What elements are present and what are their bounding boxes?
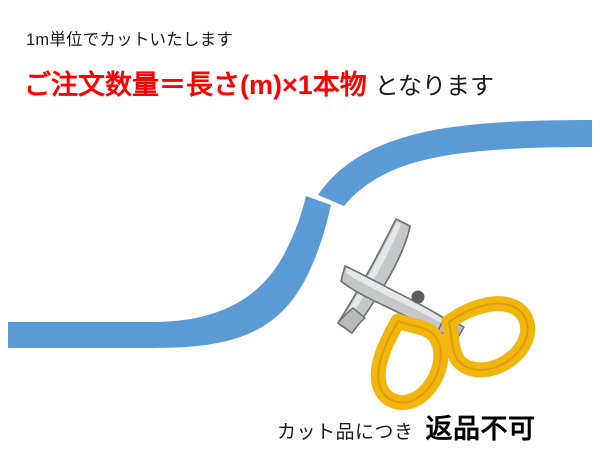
headline-tail: となります (375, 73, 494, 100)
product-cut-notice: 1m単位でカットいたします ご注文数量＝長さ(m)×1本物となります カット品に… (0, 0, 600, 466)
blue-cable-lower-segment (8, 196, 331, 348)
headline-line-1: 1m単位でカットいたします (26, 30, 233, 50)
scissors-icon (338, 219, 528, 403)
footnote-lead: カット品につき (277, 422, 414, 443)
return-policy-note: カット品につき返品不可 (277, 414, 536, 449)
scissors-pivot-icon (412, 291, 425, 304)
headline-line-2: ご注文数量＝長さ(m)×1本物となります (24, 68, 494, 104)
footnote-emphasis: 返品不可 (426, 414, 536, 444)
blue-cable-upper-segment (318, 120, 592, 206)
headline-emphasis: ご注文数量＝長さ(m)×1本物 (24, 70, 367, 100)
